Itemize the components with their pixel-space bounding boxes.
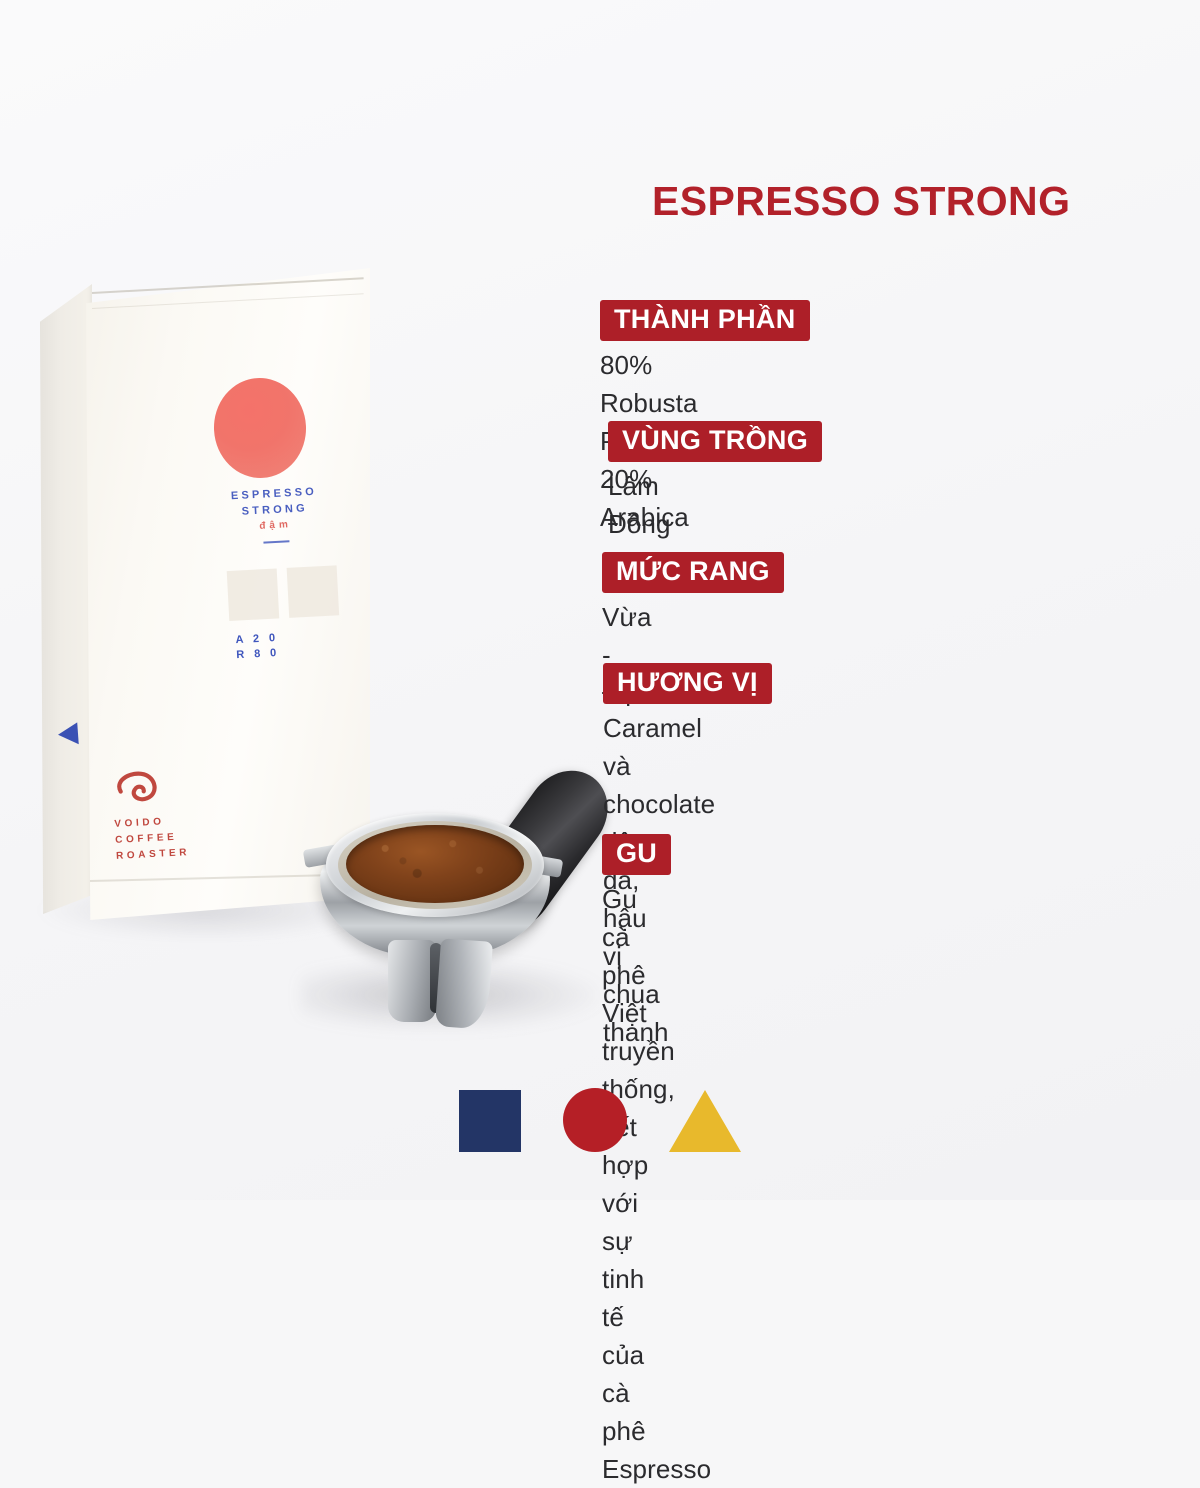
page-title: ESPRESSO STRONG [652, 178, 1172, 225]
spec-label-badge: HƯƠNG VỊ [603, 663, 772, 704]
spec-label-badge: MỨC RANG [602, 552, 784, 593]
spec-label-badge: GU [602, 834, 671, 875]
yellow-triangle-icon [669, 1090, 741, 1152]
navy-square-icon [459, 1090, 521, 1152]
spec-label-badge: VÙNG TRỒNG [608, 421, 822, 462]
red-circle-icon [563, 1088, 627, 1152]
product-info-panel: ESPRESSO STRONG [600, 0, 1200, 1200]
product-promo-card: ESPRESSO STRONG đậm A 2 0 R 8 0 VOIDO CO… [0, 0, 1200, 1200]
spec-label-badge: THÀNH PHẦN [600, 300, 810, 341]
spec-block: GUGu cà phê Việt truyền thống, kết hợp v… [0, 834, 600, 1488]
decorative-shapes [0, 1088, 1200, 1152]
spec-block: VÙNG TRỒNGLâm Đồng [0, 421, 600, 543]
